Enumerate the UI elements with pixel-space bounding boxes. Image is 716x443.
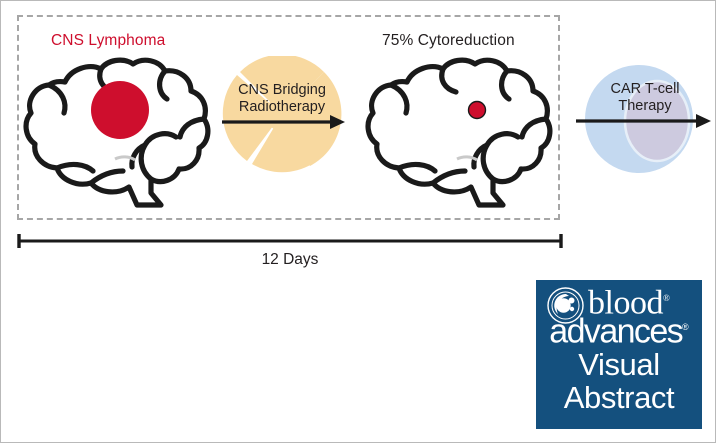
timeline-duration-label: 12 Days <box>17 251 563 269</box>
visual-abstract-figure: CNS Lymphoma <box>0 0 716 443</box>
step-radiotherapy: CNS Bridging Radiotherapy <box>217 56 347 176</box>
logo-advances-registered-mark: ® <box>682 322 689 332</box>
logo-wordmark-advances: advances® <box>540 309 698 349</box>
logo-blood-registered-mark: ® <box>663 293 669 303</box>
arrow-right-icon-car-t-cell <box>576 113 712 129</box>
logo-line-visual: Visual <box>536 348 702 382</box>
step-radiotherapy-caption: CNS Bridging Radiotherapy <box>217 82 347 116</box>
logo-wordmark-advances-text: advances <box>549 312 682 350</box>
brain-icon-after <box>361 47 561 217</box>
blood-advances-visual-abstract-logo: blood® advances® Visual Abstract <box>536 280 702 429</box>
step-car-t-cell: CAR T-cell Therapy <box>579 63 716 175</box>
arrow-right-icon-radiotherapy <box>222 114 346 130</box>
timeline-bar-icon <box>17 232 563 250</box>
step-car-t-cell-caption: CAR T-cell Therapy <box>576 81 714 115</box>
tumor-lesion-small-icon <box>467 100 487 120</box>
logo-line-abstract: Abstract <box>536 381 702 415</box>
tumor-lesion-large-icon <box>89 79 151 141</box>
